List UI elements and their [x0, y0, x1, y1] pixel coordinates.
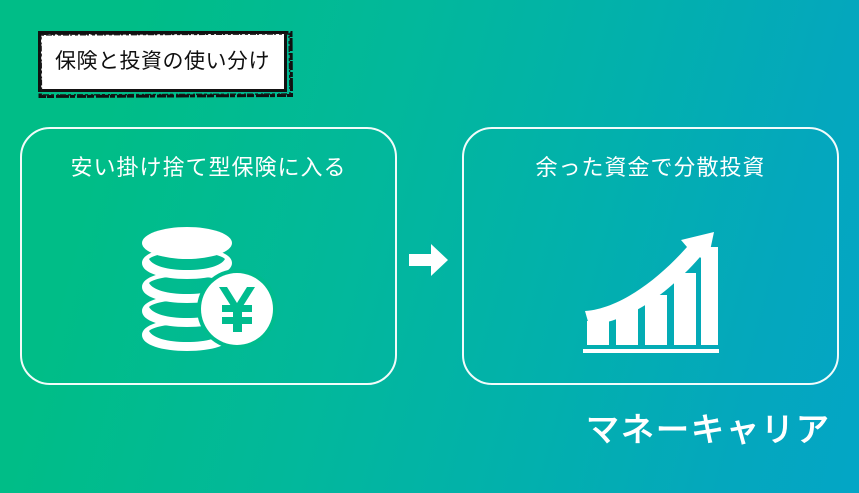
arrow-right-icon: [409, 243, 449, 277]
growth-chart-icon: [581, 225, 721, 358]
card-investment[interactable]: 余った資金で分散投資: [462, 127, 839, 385]
title-chip-label: 保険と投資の使い分け: [55, 51, 270, 72]
coin-stack-yen-icon: [139, 225, 279, 358]
card-investment-title: 余った資金で分散投資: [464, 157, 837, 179]
title-chip: 保険と投資の使い分け: [38, 31, 287, 92]
card-insurance[interactable]: 安い掛け捨て型保険に入る: [20, 127, 397, 385]
slide-canvas: 保険と投資の使い分け 安い掛け捨て型保険に入る: [0, 0, 859, 493]
brand-logo: マネーキャリア: [586, 413, 831, 446]
card-insurance-title: 安い掛け捨て型保険に入る: [22, 157, 395, 179]
